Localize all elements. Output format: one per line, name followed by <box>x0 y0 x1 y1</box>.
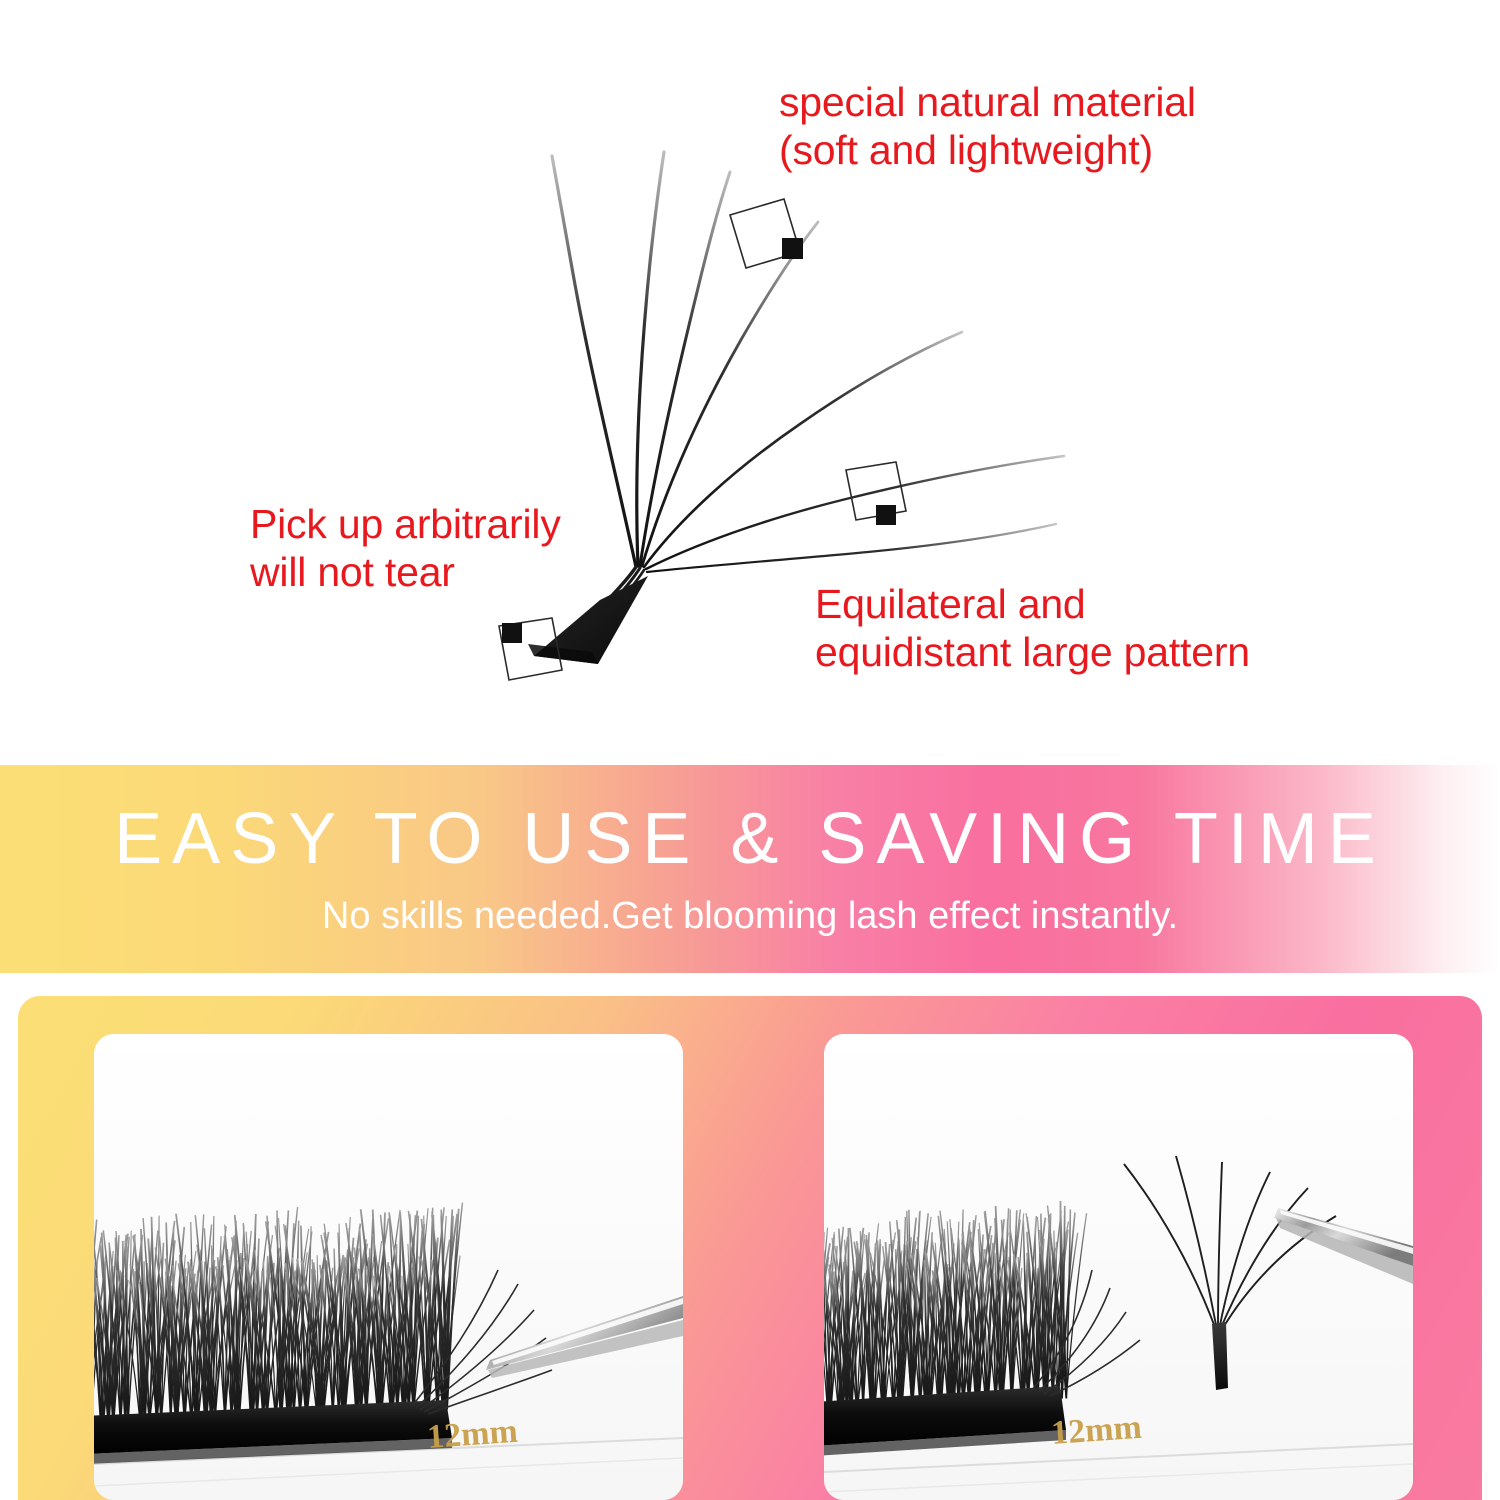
size-label-12mm: 12mm <box>426 1413 519 1456</box>
banner-subtitle: No skills needed.Get blooming lash effec… <box>322 897 1178 935</box>
square-marker-icon <box>730 199 803 268</box>
square-marker-icon <box>846 462 906 525</box>
feature-banner: EASY TO USE & SAVING TIME No skills need… <box>0 765 1500 973</box>
svg-text:12mm: 12mm <box>1050 1409 1143 1452</box>
callout-pick-up-arbitrarily: Pick up arbitrarily will not tear <box>250 500 561 597</box>
lash-tray-photo: 12mm <box>94 1034 683 1500</box>
photo-card-lash-tray-picked-fan: 12mm <box>824 1034 1413 1500</box>
callout-equilateral-equidistant: Equilateral and equidistant large patter… <box>815 580 1250 677</box>
lash-fan-icon <box>0 0 1500 765</box>
product-photo-panel: 12mm <box>18 996 1482 1500</box>
size-label-12mm: 12mm <box>1050 1409 1143 1452</box>
diagram-section: special natural material (soft and light… <box>0 0 1500 765</box>
banner-title: EASY TO USE & SAVING TIME <box>114 803 1386 875</box>
lash-fan-pickup-photo: 12mm <box>824 1034 1413 1500</box>
svg-text:12mm: 12mm <box>426 1413 519 1456</box>
photo-card-lash-tray-tweezers: 12mm <box>94 1034 683 1500</box>
callout-special-natural-material: special natural material (soft and light… <box>779 78 1196 175</box>
